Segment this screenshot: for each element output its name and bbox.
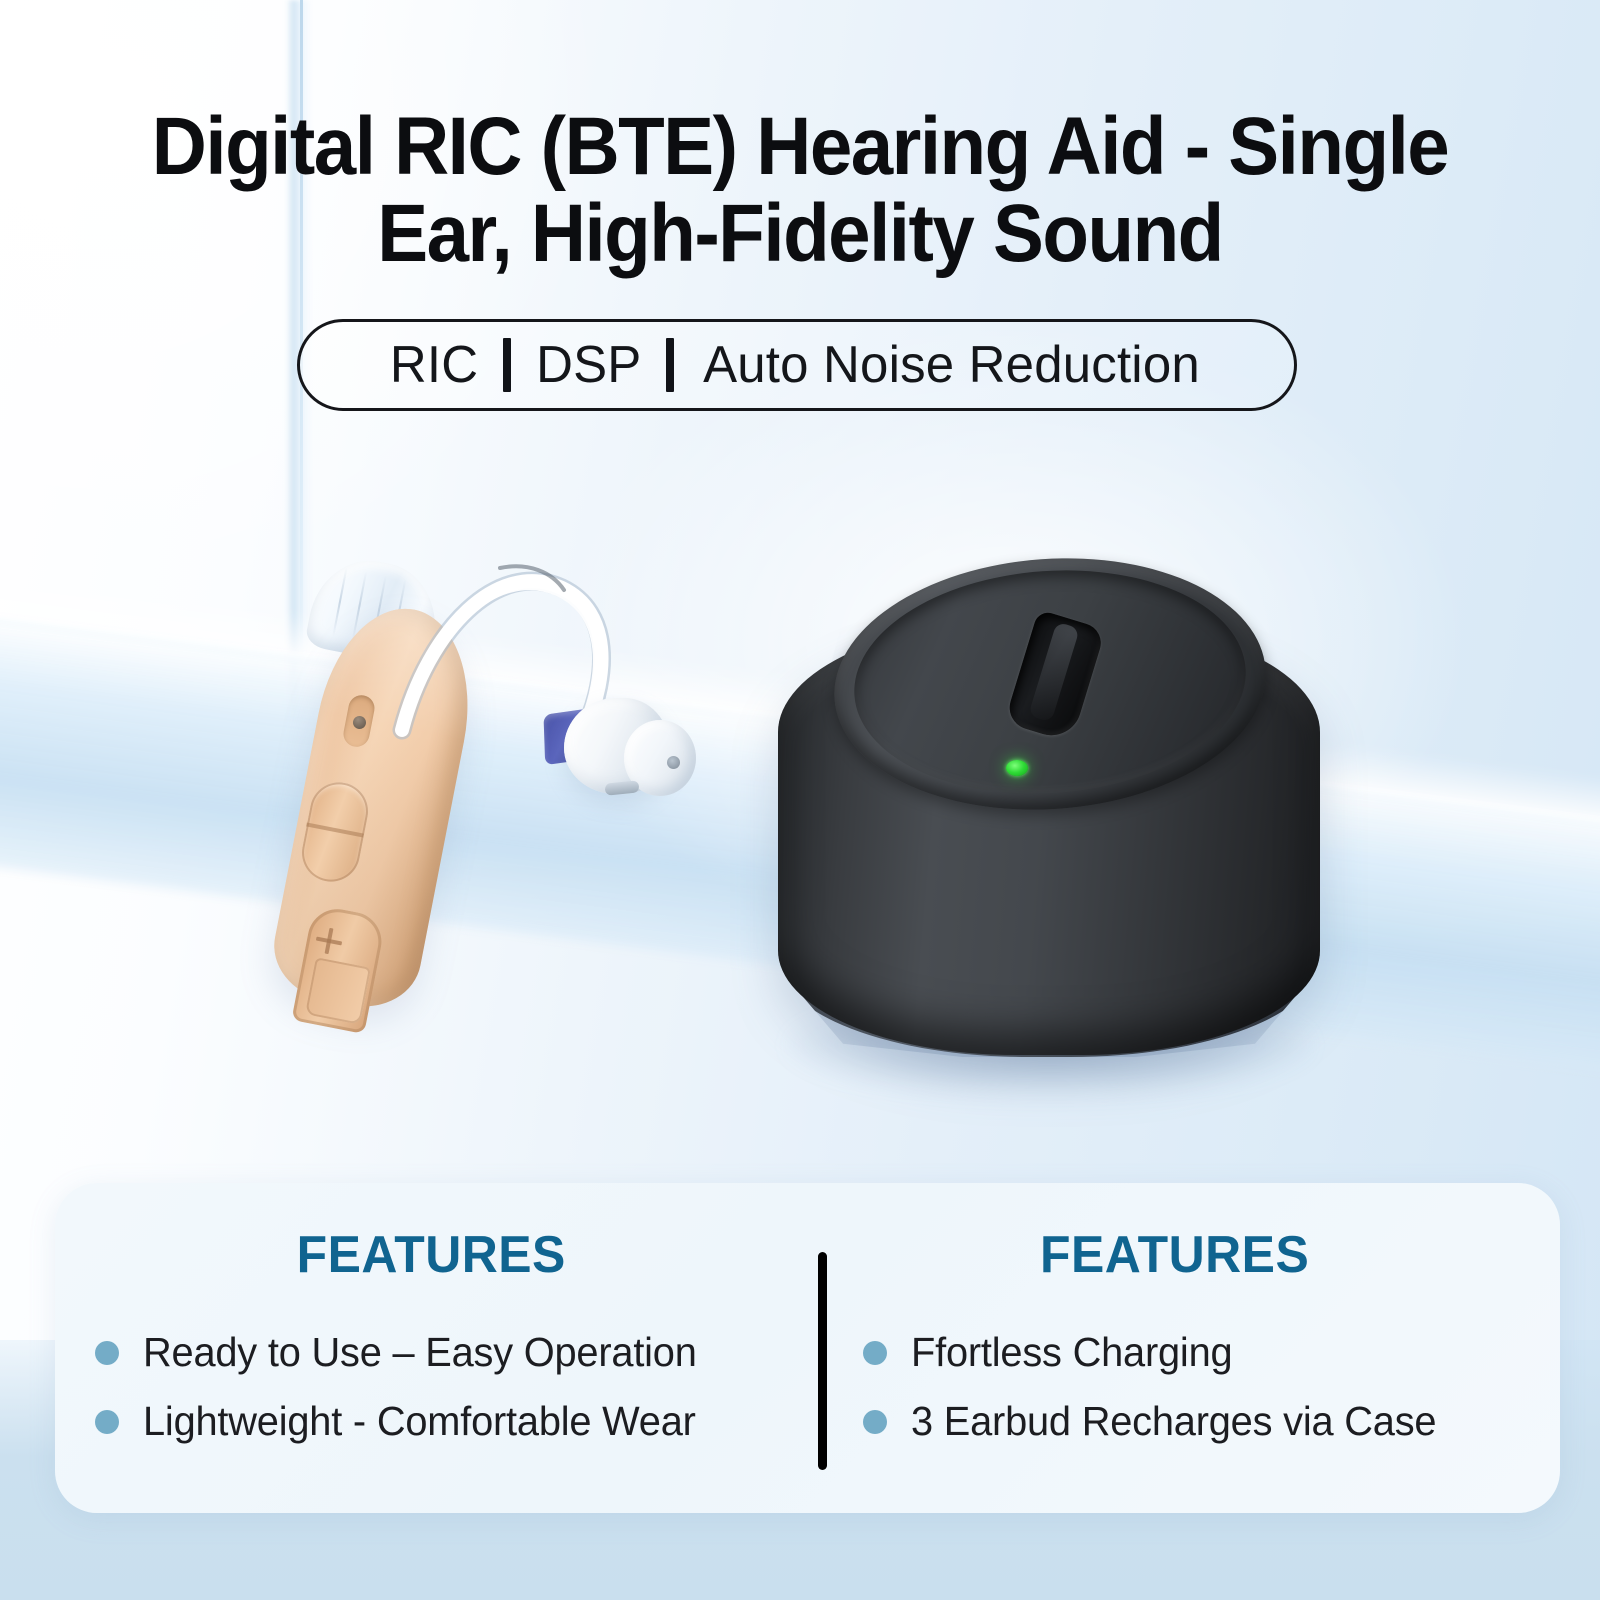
features-card: FEATURES Ready to Use – Easy Operation L…: [55, 1183, 1560, 1513]
spec-badge-item-dsp: DSP: [536, 335, 641, 395]
hearing-aid-device: [250, 470, 770, 1090]
spec-badge-item-noise-reduction: Auto Noise Reduction: [703, 335, 1200, 395]
features-column-left: FEATURES Ready to Use – Easy Operation L…: [55, 1183, 808, 1513]
feature-text: Lightweight - Comfortable Wear: [143, 1398, 696, 1445]
list-item: Ffortless Charging: [863, 1329, 1561, 1376]
spec-badge-separator-2: [666, 338, 674, 392]
charging-dock-device: [770, 545, 1330, 1075]
spec-badge-separator-1: [503, 338, 511, 392]
features-column-right: FEATURES Ffortless Charging 3 Earbud Rec…: [808, 1183, 1561, 1513]
plus-polarity-icon: [314, 926, 344, 956]
feature-text: Ready to Use – Easy Operation: [143, 1329, 697, 1376]
features-list-left: Ready to Use – Easy Operation Lightweigh…: [95, 1329, 808, 1445]
list-item: Lightweight - Comfortable Wear: [95, 1398, 808, 1445]
bullet-dot-icon: [863, 1410, 887, 1434]
ear-dome-vent-slit: [604, 780, 639, 795]
status-led-icon: [1006, 760, 1028, 776]
product-infographic: Digital RIC (BTE) Hearing Aid - Single E…: [0, 0, 1600, 1600]
page-title: Digital RIC (BTE) Hearing Aid - Single E…: [112, 104, 1488, 278]
ear-dome-sound-port: [667, 756, 680, 769]
feature-text: Ffortless Charging: [911, 1329, 1232, 1376]
bullet-dot-icon: [95, 1341, 119, 1365]
list-item: 3 Earbud Recharges via Case: [863, 1398, 1561, 1445]
bullet-dot-icon: [863, 1341, 887, 1365]
feature-text: 3 Earbud Recharges via Case: [911, 1398, 1436, 1445]
bullet-dot-icon: [95, 1410, 119, 1434]
spec-badge: RIC DSP Auto Noise Reduction: [297, 319, 1297, 411]
features-list-right: Ffortless Charging 3 Earbud Recharges vi…: [863, 1329, 1561, 1445]
battery-door[interactable]: [305, 957, 371, 1025]
features-heading-left: FEATURES: [70, 1225, 792, 1285]
features-heading-right: FEATURES: [813, 1225, 1535, 1285]
list-item: Ready to Use – Easy Operation: [95, 1329, 808, 1376]
spec-badge-item-ric: RIC: [390, 335, 478, 395]
ear-dome-tip: [550, 690, 700, 810]
